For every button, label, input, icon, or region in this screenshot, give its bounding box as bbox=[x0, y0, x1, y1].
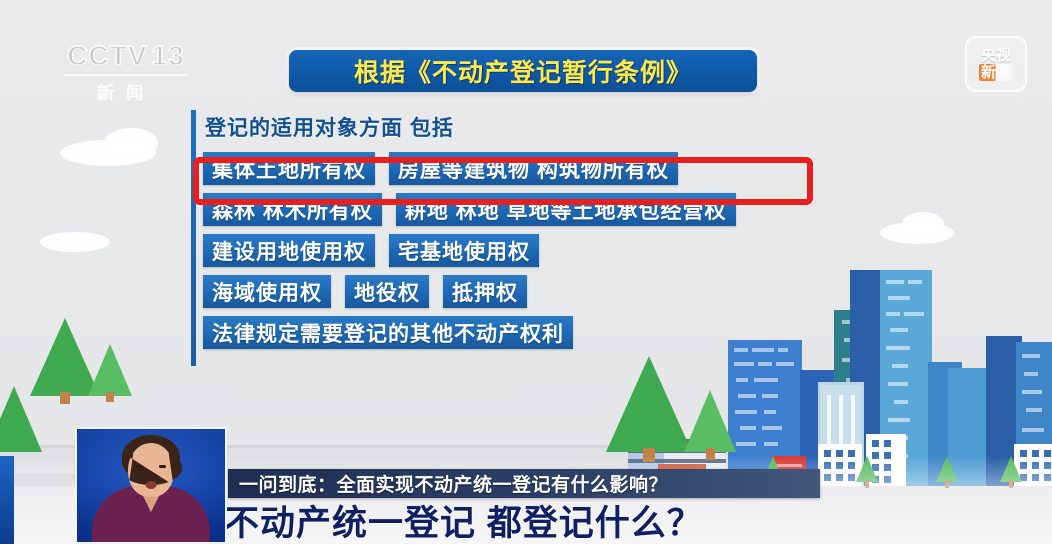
broadcast-frame: CCTV 13 新闻 央视 新闻 根据《不动产登记暂行条例》 登记的适用对象方面… bbox=[0, 0, 1052, 544]
tree-mid-large bbox=[606, 356, 692, 452]
headline-bar: 不动产统一登记 都登记什么？ bbox=[224, 498, 924, 542]
watermark-line-2: 新闻 bbox=[979, 64, 1013, 81]
list-chip: 建设用地使用权 bbox=[203, 234, 375, 267]
cctv13-logo: CCTV 13 新闻 bbox=[62, 40, 190, 102]
list-row: 森林 林木所有权 耕地 林地 草地等土地承包经营权 bbox=[203, 193, 903, 226]
list-row: 集体土地所有权 房屋等建筑物 构筑物所有权 bbox=[203, 152, 903, 185]
cloud-2 bbox=[104, 128, 158, 158]
list-chip: 地役权 bbox=[345, 275, 429, 308]
cctv-logo-rule bbox=[64, 74, 188, 76]
anchor-pip-video[interactable] bbox=[75, 427, 227, 544]
list-heading: 登记的适用对象方面 包括 bbox=[205, 112, 903, 142]
anchor-eye-right bbox=[159, 465, 166, 468]
lower-third-side-bar bbox=[0, 456, 14, 544]
list-row: 海域使用权 地役权 抵押权 bbox=[203, 275, 903, 308]
cctv-news-watermark: 央视 新闻 bbox=[965, 36, 1027, 92]
cloud-5 bbox=[40, 232, 110, 252]
list-chip: 耕地 林地 草地等土地承包经营权 bbox=[396, 193, 736, 226]
list-row: 建设用地使用权 宅基地使用权 bbox=[203, 234, 903, 267]
title-banner-text: 根据《不动产登记暂行条例》 bbox=[354, 53, 692, 89]
list-chip: 海域使用权 bbox=[203, 275, 331, 308]
list-accent-rail bbox=[191, 110, 196, 366]
list-chip: 宅基地使用权 bbox=[389, 234, 539, 267]
topic-text: 一问到底：全面实现不动产统一登记有什么影响？ bbox=[228, 470, 668, 497]
cctv-logo-text: CCTV bbox=[67, 40, 147, 72]
list-chip: 法律规定需要登记的其他不动产权利 bbox=[203, 316, 573, 349]
anchor-mouth bbox=[146, 481, 157, 489]
registration-scope-list: 登记的适用对象方面 包括 集体土地所有权 房屋等建筑物 构筑物所有权 森林 林木… bbox=[203, 112, 903, 357]
cctv-logo-sub: 新闻 bbox=[62, 79, 190, 104]
tree-mid-small bbox=[684, 390, 736, 452]
tree-edge-left bbox=[0, 386, 42, 452]
list-chip: 房屋等建筑物 构筑物所有权 bbox=[389, 152, 678, 185]
list-chip: 森林 林木所有权 bbox=[203, 193, 382, 226]
list-chip: 集体土地所有权 bbox=[203, 152, 375, 185]
headline-text: 不动产统一登记 都登记什么？ bbox=[224, 495, 703, 544]
cctv-logo-number: 13 bbox=[152, 40, 185, 72]
title-banner: 根据《不动产登记暂行条例》 bbox=[289, 50, 757, 92]
anchor-eye-left bbox=[135, 465, 142, 468]
cloud-4 bbox=[902, 212, 944, 236]
list-row: 法律规定需要登记的其他不动产权利 bbox=[203, 316, 903, 349]
tree-left-small bbox=[88, 344, 132, 396]
list-chip: 抵押权 bbox=[443, 275, 527, 308]
watermark-line-1: 央视 bbox=[981, 48, 1011, 63]
